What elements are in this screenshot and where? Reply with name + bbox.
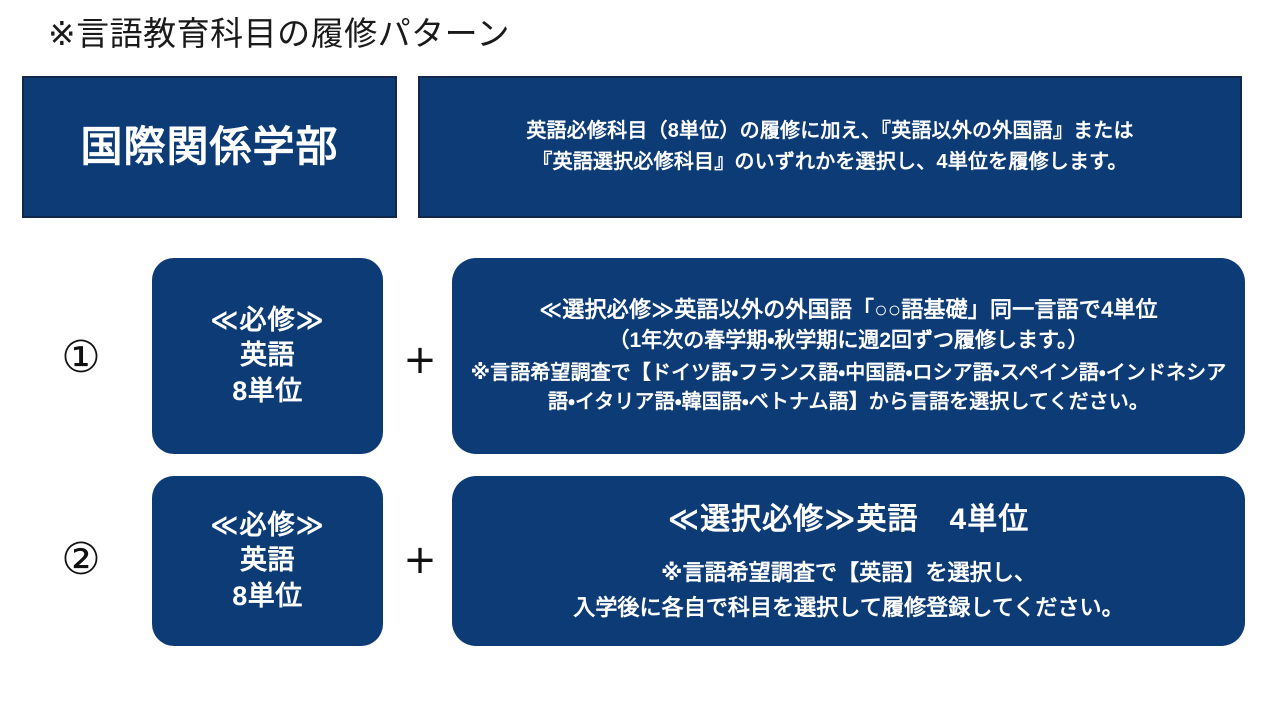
- elective-note-1: ※言語希望調査で【ドイツ語・フランス語・中国語・ロシア語・スペイン語・インドネシ…: [470, 359, 1227, 418]
- summary-line-2: 『英語選択必修科目』のいずれかを選択し、4単位を履修します。: [526, 147, 1133, 178]
- required-course-box-1: ≪必修≫ 英語 8単位: [152, 258, 383, 454]
- elective-course-box-2: ≪選択必修≫英語 4単位 ※言語希望調査で【英語】を選択し、 入学後に各自で科目…: [452, 476, 1245, 646]
- plus-icon-2: +: [398, 540, 442, 580]
- pattern-number-1: ①: [26, 336, 136, 380]
- required-credits-1: 8単位: [232, 374, 303, 410]
- elective-course-box-1: ≪選択必修≫英語以外の外国語「○○語基礎」同一言語で4単位 （1年次の春学期・秋…: [452, 258, 1245, 454]
- elective-note-2-line-2: 入学後に各自で科目を選択して履修登録してください。: [573, 591, 1124, 624]
- summary-box: 英語必修科目（8単位）の履修に加え、『英語以外の外国語』または 『英語選択必修科…: [418, 76, 1242, 218]
- summary-text: 英語必修科目（8単位）の履修に加え、『英語以外の外国語』または 『英語選択必修科…: [526, 116, 1133, 178]
- elective-subline-1: （1年次の春学期・秋学期に週2回ずつ履修します。）: [609, 326, 1089, 356]
- summary-line-1: 英語必修科目（8単位）の履修に加え、『英語以外の外国語』または: [526, 116, 1133, 147]
- plus-icon-1: +: [398, 340, 442, 380]
- elective-note-2-line-1: ※言語希望調査で【英語】を選択し、: [661, 556, 1036, 589]
- required-subject-1: 英語: [240, 338, 295, 374]
- faculty-name-box: 国際関係学部: [22, 76, 397, 218]
- pattern-row-2: ② ≪必修≫ 英語 8単位 + ≪選択必修≫英語 4単位 ※言語希望調査で【英語…: [0, 476, 1280, 646]
- required-subject-2: 英語: [240, 543, 295, 579]
- pattern-row-1: ① ≪必修≫ 英語 8単位 + ≪選択必修≫英語以外の外国語「○○語基礎」同一言…: [0, 258, 1280, 456]
- elective-headline-1: ≪選択必修≫英語以外の外国語「○○語基礎」同一言語で4単位: [539, 294, 1158, 326]
- elective-headline-2: ≪選択必修≫英語 4単位: [668, 498, 1030, 542]
- required-tag-2: ≪必修≫: [210, 508, 325, 544]
- required-course-box-2: ≪必修≫ 英語 8単位: [152, 476, 383, 646]
- faculty-name-label: 国際関係学部: [80, 124, 338, 170]
- pattern-number-2: ②: [26, 538, 136, 582]
- page-title: ※言語教育科目の履修パターン: [48, 12, 510, 56]
- required-credits-2: 8単位: [232, 579, 303, 615]
- required-tag-1: ≪必修≫: [210, 303, 325, 339]
